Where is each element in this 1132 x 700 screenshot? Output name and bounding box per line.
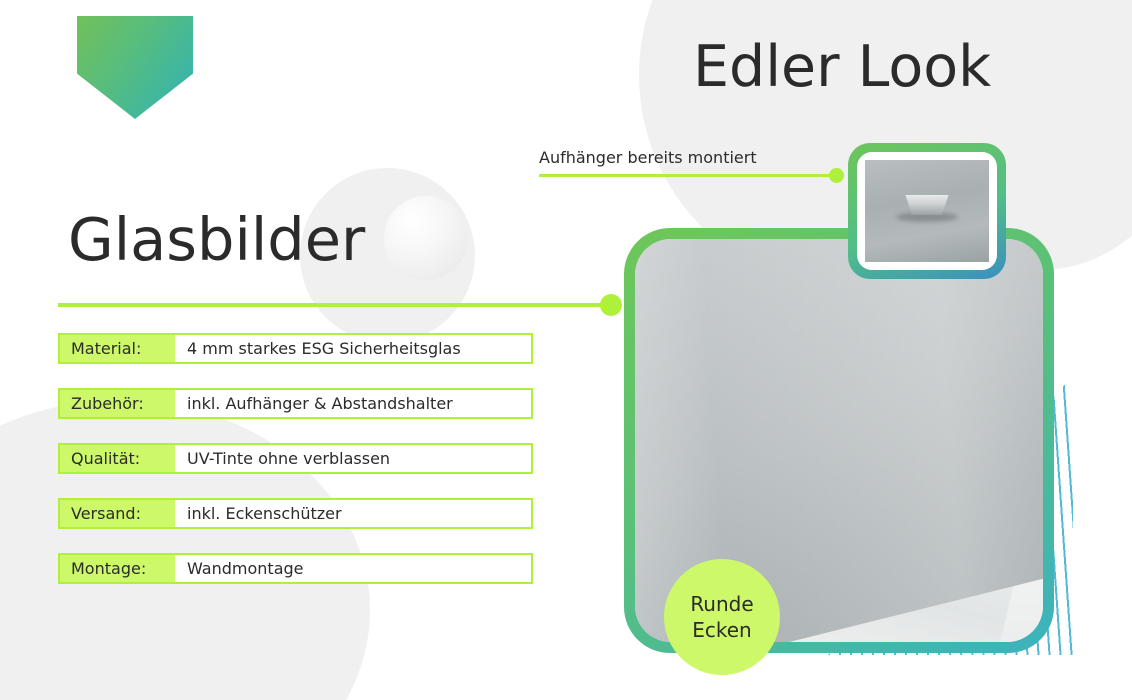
spec-value: Wandmontage	[175, 555, 316, 582]
spec-key: Qualität:	[60, 445, 175, 472]
status-badge: Runde Ecken	[664, 559, 780, 675]
table-row: Zubehör: inkl. Aufhänger & Abstandshalte…	[58, 388, 533, 419]
spec-value: inkl. Eckenschützer	[175, 500, 354, 527]
poster-canvas: Edler Look Glasbilder Material: 4 mm sta…	[0, 0, 1132, 700]
table-row: Montage: Wandmontage	[58, 553, 533, 584]
hanger-bracket-icon	[865, 160, 989, 262]
spec-key: Zubehör:	[60, 390, 175, 417]
badge-line-2: Ecken	[692, 617, 751, 643]
spec-key: Versand:	[60, 500, 175, 527]
page-title-right: Edler Look	[693, 34, 991, 100]
shield-icon	[77, 16, 193, 119]
hanger-callout-label: Aufhänger bereits montiert	[539, 148, 757, 167]
badge-line-1: Runde	[690, 591, 753, 617]
spec-key: Montage:	[60, 555, 175, 582]
spec-key: Material:	[60, 335, 175, 362]
hanger-callout-line	[539, 174, 829, 177]
connector-line	[58, 303, 610, 307]
page-title-left: Glasbilder	[68, 205, 365, 274]
table-row: Versand: inkl. Eckenschützer	[58, 498, 533, 529]
hanger-callout-dot	[829, 168, 844, 183]
connector-dot	[600, 294, 622, 316]
table-row: Qualität: UV-Tinte ohne verblassen	[58, 443, 533, 474]
spec-table: Material: 4 mm starkes ESG Sicherheitsgl…	[58, 333, 533, 608]
spec-value: 4 mm starkes ESG Sicherheitsglas	[175, 335, 473, 362]
decorative-sphere	[384, 196, 468, 280]
product-photo-hanger-inset	[848, 143, 1006, 279]
spec-value: UV-Tinte ohne verblassen	[175, 445, 402, 472]
spec-value: inkl. Aufhänger & Abstandshalter	[175, 390, 465, 417]
table-row: Material: 4 mm starkes ESG Sicherheitsgl…	[58, 333, 533, 364]
